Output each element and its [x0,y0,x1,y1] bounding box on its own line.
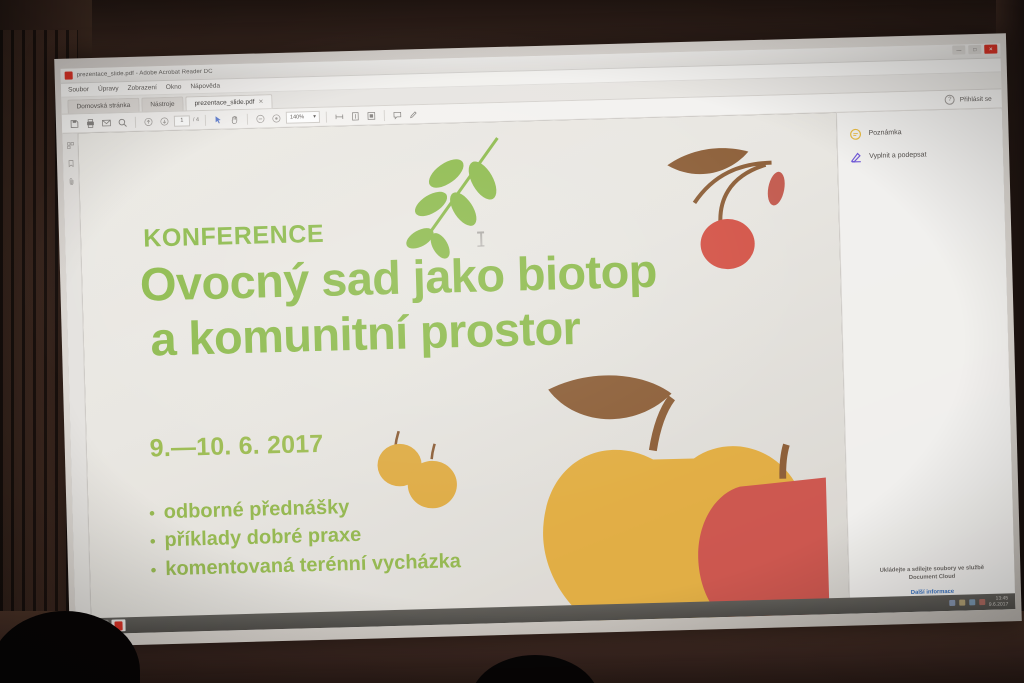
cherry-with-leaf-icon [636,131,814,276]
close-button[interactable]: ✕ [984,44,997,53]
tool-comment-label: Poznámka [868,129,901,137]
acrobat-app-icon [65,71,73,79]
menu-item-napoveda[interactable]: Nápověda [190,83,220,91]
volume-icon[interactable] [959,600,965,606]
toolbar-separator-4 [326,111,327,122]
tab-tools-label: Nástroje [150,101,174,109]
fill-and-sign-icon [849,150,862,163]
work-area: KONFERENCE Ovocný sad jako biotop a komu… [62,108,1015,634]
comment-bubble-icon[interactable] [391,108,404,121]
slide-kicker: KONFERENCE [143,220,325,254]
comment-icon [848,127,861,140]
text-cursor-icon [480,232,482,247]
select-cursor-icon[interactable] [212,113,225,126]
zoom-out-icon[interactable] [254,112,267,125]
window-controls: — □ ✕ [952,44,997,54]
tab-tools[interactable]: Nástroje [141,97,184,112]
print-icon[interactable] [84,116,97,129]
hand-tool-icon[interactable] [228,112,241,125]
zoom-level-value: 140% [290,114,304,120]
action-center-icon[interactable] [979,599,985,605]
tool-fill-and-sign-label: Vyplnit a podepsat [869,151,927,160]
slide-bullet-list: odborné přednášky příklady dobré praxe k… [149,490,461,584]
tools-panel: Poznámka Vyplnit a podepsat Ukládejte a … [836,108,1015,613]
slide-date: 9.—10. 6. 2017 [149,430,323,464]
chevron-down-icon: ▾ [313,114,316,120]
menu-item-okno[interactable]: Okno [166,84,182,91]
projected-presentation-photo: prezentace_slide.pdf - Adobe Acrobat Rea… [0,0,1024,683]
search-icon[interactable] [116,115,129,128]
projection-screen: prezentace_slide.pdf - Adobe Acrobat Rea… [54,33,1022,647]
tab-home[interactable]: Domovská stránka [67,98,139,114]
system-tray: 13:45 9.6.2017 [949,595,1013,609]
toolbar-separator-5 [384,110,385,121]
slide-headline-line2: a komunitní prostor [150,299,659,367]
page-thumbnails-icon[interactable] [65,140,74,149]
toolbar-separator [135,116,136,127]
next-page-icon[interactable] [158,114,171,127]
minimize-button[interactable]: — [952,45,965,54]
account-area: ? Přihlásit se [945,94,996,105]
apple-pair-icon [509,363,849,632]
attachments-icon[interactable] [66,176,75,185]
toolbar-separator-2 [205,114,206,125]
menu-item-zobrazeni[interactable]: Zobrazení [128,84,157,92]
zoom-in-icon[interactable] [270,111,283,124]
full-screen-icon[interactable] [365,109,378,122]
help-icon[interactable]: ? [945,95,955,105]
menu-item-soubor[interactable]: Soubor [68,86,89,94]
bookmarks-icon[interactable] [66,158,75,167]
email-icon[interactable] [100,116,113,129]
tab-document-label: prezentace_slide.pdf [194,99,254,108]
previous-page-icon[interactable] [142,115,155,128]
presentation-slide: KONFERENCE Ovocný sad jako biotop a komu… [78,113,849,634]
highlight-pen-icon[interactable] [407,108,420,121]
acrobat-reader-window: prezentace_slide.pdf - Adobe Acrobat Rea… [60,43,1015,634]
page-total-label: / 4 [193,117,199,123]
tab-document[interactable]: prezentace_slide.pdf ✕ [185,94,272,110]
window-title: prezentace_slide.pdf - Adobe Acrobat Rea… [77,69,213,79]
maximize-button[interactable]: □ [968,45,981,54]
leafy-branch-icon [378,131,533,265]
network-icon[interactable] [949,600,955,606]
slide-headline: Ovocný sad jako biotop a komunitní prost… [139,244,659,367]
clock-date: 9.6.2017 [989,601,1009,608]
sign-in-button[interactable]: Přihlásit se [960,95,992,103]
toolbar-separator-3 [247,113,248,124]
battery-icon[interactable] [969,599,975,605]
document-view[interactable]: KONFERENCE Ovocný sad jako biotop a komu… [78,113,849,634]
zoom-level-select[interactable]: 140% ▾ [286,111,320,124]
page-number-input[interactable]: 1 [174,115,190,126]
taskbar-clock[interactable]: 13:45 9.6.2017 [989,595,1009,608]
tool-fill-and-sign[interactable]: Vyplnit a podepsat [838,141,1004,168]
fit-page-icon[interactable] [349,109,362,122]
fit-width-icon[interactable] [333,110,346,123]
tab-home-label: Domovská stránka [76,102,130,110]
menu-item-upravy[interactable]: Úpravy [98,85,119,93]
tab-close-icon[interactable]: ✕ [258,98,263,105]
save-icon[interactable] [68,117,81,130]
